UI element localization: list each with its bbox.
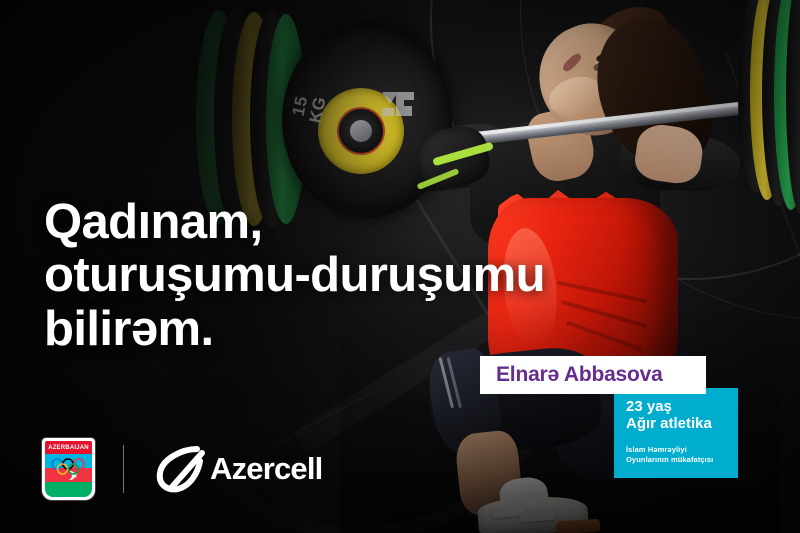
athlete-name: Elnarə Abbasova — [496, 363, 663, 387]
athlete-sport: Ağır atletika — [626, 415, 729, 432]
athlete-info-card: 23 yaş Ağır atletika İslam Həmrəyliyi Oy… — [614, 388, 738, 478]
azercell-alpha-mark-icon — [152, 443, 212, 495]
athlete-name-card: Elnarə Abbasova — [480, 356, 706, 394]
headline-line-1: Qadınam, — [44, 196, 644, 249]
olympic-rings-icon — [50, 457, 87, 475]
noc-badge-inner: AZERBAIJAN ★ — [45, 441, 92, 497]
azercell-wordmark: Azercell — [210, 451, 323, 487]
headline-line-2: oturuşumu-duruşumu — [44, 249, 644, 302]
logo-divider — [123, 445, 124, 493]
footer-logos: AZERBAIJAN ★ — [42, 438, 323, 500]
noc-country-label: AZERBAIJAN — [45, 441, 92, 454]
poster-canvas: 15 KG Qadınam, oturuşumu-duruşumu bilirə… — [0, 0, 800, 533]
flag-stripe-green — [45, 482, 92, 497]
headline-line-3: bilirəm. — [44, 303, 644, 356]
headline: Qadınam, oturuşumu-duruşumu bilirəm. — [44, 196, 644, 356]
athlete-achievement: İslam Həmrəyliyi Oyunlarının mükafatçısı — [626, 445, 729, 465]
azerbaijan-noc-logo: AZERBAIJAN ★ — [42, 438, 95, 500]
athlete-age: 23 yaş — [626, 398, 729, 415]
azercell-logo: Azercell — [152, 443, 323, 495]
